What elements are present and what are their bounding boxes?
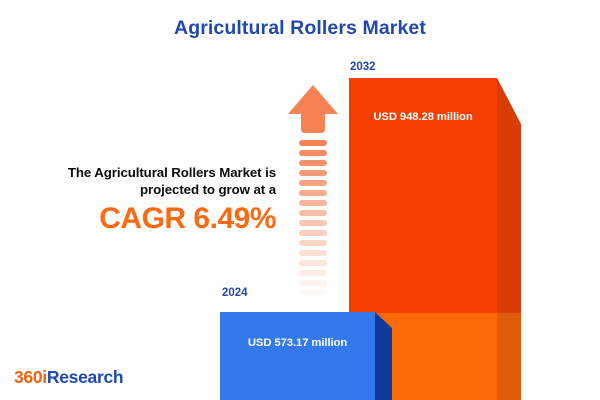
growth-arrow-up-icon (287, 84, 339, 296)
bar-label-2032: 2032 (350, 61, 376, 73)
bar-2024-side-face (375, 312, 392, 400)
brand-logo[interactable]: 360iResearch (14, 367, 123, 388)
brand-logo-orange-part: 360i (14, 367, 47, 387)
bar-2032-value-label: USD 948.28 million (349, 111, 497, 123)
bar-2024-front-face (220, 312, 375, 400)
bar-2032-side-face-lower (497, 313, 521, 400)
page-title: Agricultural Rollers Market (0, 17, 600, 40)
bar-2024[interactable]: USD 573.17 million (220, 312, 392, 400)
bar-2024-value-label: USD 573.17 million (220, 337, 375, 349)
cagr-value: CAGR 6.49% (18, 202, 276, 236)
brand-logo-blue-part: Research (47, 367, 123, 387)
bar-2032-side-face-upper (497, 78, 521, 313)
caption-block: The Agricultural Rollers Market is proje… (18, 164, 276, 236)
bar-label-2024: 2024 (222, 287, 248, 299)
caption-text: The Agricultural Rollers Market is proje… (18, 164, 276, 198)
infographic-canvas: Agricultural Rollers Market The Agricult… (0, 0, 600, 400)
